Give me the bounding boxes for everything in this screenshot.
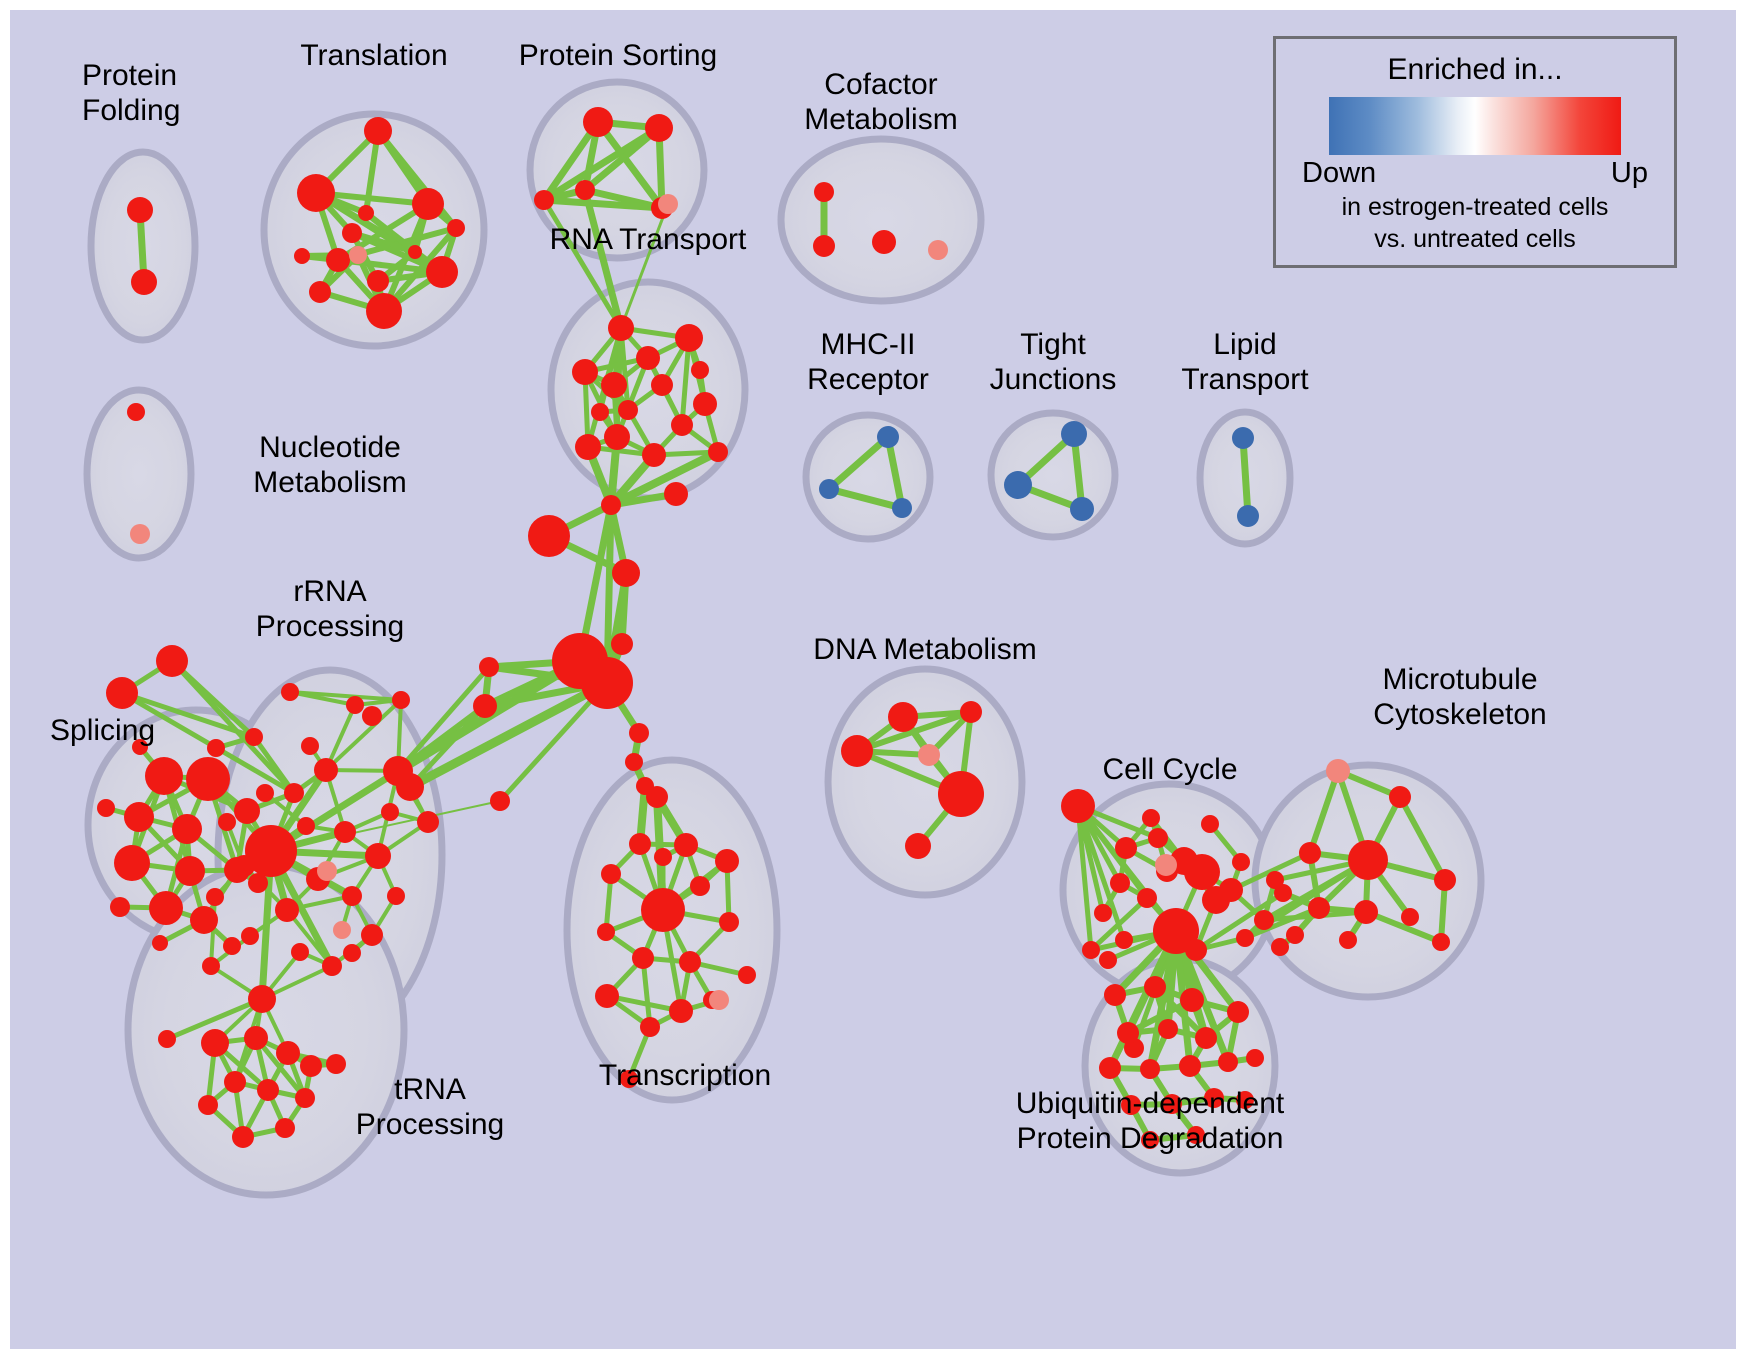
network-node[interactable] xyxy=(490,791,510,811)
network-node[interactable] xyxy=(1254,910,1274,930)
network-node[interactable] xyxy=(1232,427,1254,449)
network-node[interactable] xyxy=(358,205,374,221)
network-node[interactable] xyxy=(110,897,130,917)
network-node[interactable] xyxy=(1184,854,1220,890)
network-node[interactable] xyxy=(1219,878,1243,902)
network-node[interactable] xyxy=(1117,1022,1139,1044)
network-node[interactable] xyxy=(601,864,621,884)
network-node[interactable] xyxy=(1339,931,1357,949)
network-node[interactable] xyxy=(1115,837,1137,859)
network-node[interactable] xyxy=(392,691,410,709)
network-node[interactable] xyxy=(1082,941,1100,959)
network-node[interactable] xyxy=(1110,873,1130,893)
network-node[interactable] xyxy=(366,293,402,329)
network-node[interactable] xyxy=(1236,929,1254,947)
network-node[interactable] xyxy=(114,845,150,881)
network-node[interactable] xyxy=(575,180,595,200)
network-node[interactable] xyxy=(877,426,899,448)
network-node[interactable] xyxy=(690,876,710,896)
network-node[interactable] xyxy=(417,811,439,833)
network-node[interactable] xyxy=(145,757,183,795)
network-node[interactable] xyxy=(218,813,236,831)
network-node[interactable] xyxy=(918,744,940,766)
network-node[interactable] xyxy=(654,848,672,866)
network-node[interactable] xyxy=(583,107,613,137)
network-node[interactable] xyxy=(1354,900,1378,924)
legend-title: Enriched in... xyxy=(1276,53,1674,87)
network-node[interactable] xyxy=(175,856,205,886)
network-node[interactable] xyxy=(1432,933,1450,951)
network-node[interactable] xyxy=(691,361,709,379)
network-node[interactable] xyxy=(106,677,138,709)
network-node[interactable] xyxy=(1099,1057,1121,1079)
network-node[interactable] xyxy=(1148,828,1168,848)
network-node[interactable] xyxy=(364,117,392,145)
network-node[interactable] xyxy=(595,984,619,1008)
network-node[interactable] xyxy=(248,873,268,893)
network-node[interactable] xyxy=(658,194,678,214)
network-node[interactable] xyxy=(309,281,331,303)
network-node[interactable] xyxy=(1061,421,1087,447)
network-node[interactable] xyxy=(1348,840,1388,880)
network-node[interactable] xyxy=(127,403,145,421)
network-node[interactable] xyxy=(618,400,638,420)
network-node[interactable] xyxy=(601,372,627,398)
network-node[interactable] xyxy=(669,999,693,1023)
network-node[interactable] xyxy=(646,786,668,808)
network-node[interactable] xyxy=(1434,869,1456,891)
legend-endpoints: Down Up xyxy=(1276,155,1674,190)
network-node[interactable] xyxy=(640,1017,660,1037)
network-node[interactable] xyxy=(281,683,299,701)
network-node[interactable] xyxy=(361,924,383,946)
network-node[interactable] xyxy=(629,723,649,743)
network-node[interactable] xyxy=(198,1095,218,1115)
network-node[interactable] xyxy=(1195,1027,1217,1049)
network-node[interactable] xyxy=(326,248,350,272)
network-node[interactable] xyxy=(629,833,651,855)
network-node[interactable] xyxy=(387,887,405,905)
network-node[interactable] xyxy=(572,359,598,385)
network-node[interactable] xyxy=(1218,1052,1238,1072)
network-node[interactable] xyxy=(641,888,685,932)
network-node[interactable] xyxy=(257,1079,279,1101)
network-node[interactable] xyxy=(1137,888,1157,908)
cluster-label-lipid-transport: Lipid Transport xyxy=(1120,327,1370,397)
network-node[interactable] xyxy=(1144,976,1166,998)
network-node[interactable] xyxy=(97,799,115,817)
cluster-label-transcription: Transcription xyxy=(525,1058,845,1093)
network-node[interactable] xyxy=(381,803,399,821)
halo-cofactor-metabolism xyxy=(781,139,981,301)
cluster-label-rna-transport: RNA Transport xyxy=(478,222,818,257)
network-node[interactable] xyxy=(130,524,150,544)
network-node[interactable] xyxy=(1227,1001,1249,1023)
network-node[interactable] xyxy=(426,256,458,288)
network-node[interactable] xyxy=(1179,1055,1201,1077)
network-node[interactable] xyxy=(408,245,422,259)
cluster-label-trna-processing: tRNA Processing xyxy=(300,1072,560,1142)
network-node[interactable] xyxy=(367,270,389,292)
legend-down-label: Down xyxy=(1302,157,1376,190)
network-node[interactable] xyxy=(186,757,230,801)
network-node[interactable] xyxy=(1274,884,1292,902)
network-node[interactable] xyxy=(1299,842,1321,864)
network-node[interactable] xyxy=(608,315,634,341)
network-node[interactable] xyxy=(224,1071,246,1093)
network-node[interactable] xyxy=(1115,931,1133,949)
network-node[interactable] xyxy=(291,943,309,961)
network-node[interactable] xyxy=(202,957,220,975)
network-node[interactable] xyxy=(636,346,660,370)
network-node[interactable] xyxy=(473,694,497,718)
network-node[interactable] xyxy=(528,515,570,557)
halo-mhc-ii-receptor xyxy=(806,415,930,539)
network-node[interactable] xyxy=(158,1030,176,1048)
network-node[interactable] xyxy=(738,966,756,984)
network-node[interactable] xyxy=(1173,919,1191,937)
network-node[interactable] xyxy=(632,947,654,969)
network-node[interactable] xyxy=(715,849,739,873)
network-node[interactable] xyxy=(206,888,224,906)
network-node[interactable] xyxy=(232,1126,254,1148)
network-node[interactable] xyxy=(611,633,633,655)
network-node[interactable] xyxy=(322,956,342,976)
network-node[interactable] xyxy=(156,645,188,677)
network-node[interactable] xyxy=(1094,904,1112,922)
network-node[interactable] xyxy=(1185,939,1207,961)
network-node[interactable] xyxy=(1061,789,1095,823)
network-node[interactable] xyxy=(679,951,701,973)
network-node[interactable] xyxy=(1286,926,1304,944)
network-node[interactable] xyxy=(131,269,157,295)
network-node[interactable] xyxy=(314,758,338,782)
network-node[interactable] xyxy=(960,701,982,723)
network-node[interactable] xyxy=(268,836,286,854)
cluster-label-rrna-processing: rRNA Processing xyxy=(210,574,450,644)
network-node[interactable] xyxy=(814,182,834,202)
cluster-label-splicing: Splicing xyxy=(50,713,250,748)
network-node[interactable] xyxy=(412,188,444,220)
network-node[interactable] xyxy=(1180,988,1204,1012)
cluster-label-cofactor-metabolism: Cofactor Metabolism xyxy=(731,67,1031,137)
network-node[interactable] xyxy=(534,190,554,210)
network-node[interactable] xyxy=(719,912,739,932)
network-node[interactable] xyxy=(172,814,202,844)
network-node[interactable] xyxy=(275,898,299,922)
network-node[interactable] xyxy=(604,424,630,450)
network-node[interactable] xyxy=(362,706,382,726)
network-node[interactable] xyxy=(693,392,717,416)
network-node[interactable] xyxy=(938,771,984,817)
network-node[interactable] xyxy=(1070,497,1094,521)
network-node[interactable] xyxy=(819,479,839,499)
network-node[interactable] xyxy=(346,696,364,714)
network-node[interactable] xyxy=(342,223,362,243)
network-node[interactable] xyxy=(675,324,703,352)
network-node[interactable] xyxy=(1308,897,1330,919)
network-node[interactable] xyxy=(1271,938,1289,956)
network-node[interactable] xyxy=(671,414,693,436)
cluster-label-cell-cycle: Cell Cycle xyxy=(1040,752,1300,787)
network-node[interactable] xyxy=(651,374,673,396)
network-node[interactable] xyxy=(301,737,319,755)
network-node[interactable] xyxy=(334,821,356,843)
network-node[interactable] xyxy=(342,886,362,906)
network-node[interactable] xyxy=(244,1026,268,1050)
network-node[interactable] xyxy=(1237,505,1259,527)
network-node[interactable] xyxy=(642,443,666,467)
network-node[interactable] xyxy=(708,442,728,462)
network-node[interactable] xyxy=(127,197,153,223)
network-node[interactable] xyxy=(601,495,621,515)
network-node[interactable] xyxy=(396,773,424,801)
network-node[interactable] xyxy=(1155,854,1177,876)
network-node[interactable] xyxy=(709,990,729,1010)
network-node[interactable] xyxy=(645,114,673,142)
network-node[interactable] xyxy=(248,985,276,1013)
network-node[interactable] xyxy=(1099,951,1117,969)
network-node[interactable] xyxy=(1401,908,1419,926)
network-node[interactable] xyxy=(256,784,274,802)
network-node[interactable] xyxy=(612,559,640,587)
network-node[interactable] xyxy=(349,246,367,264)
network-node[interactable] xyxy=(276,1041,300,1065)
network-node[interactable] xyxy=(241,927,259,945)
network-node[interactable] xyxy=(297,817,315,835)
network-node[interactable] xyxy=(575,434,601,460)
network-node[interactable] xyxy=(201,1029,229,1057)
network-node[interactable] xyxy=(674,833,698,857)
network-node[interactable] xyxy=(905,833,931,859)
network-node[interactable] xyxy=(1246,1049,1264,1067)
legend-subtitle-line-2: vs. untreated cells xyxy=(1276,224,1674,254)
network-node[interactable] xyxy=(343,944,361,962)
legend-box: Enriched in... Down Up in estrogen-treat… xyxy=(1273,36,1677,268)
network-node[interactable] xyxy=(591,403,609,421)
network-node[interactable] xyxy=(297,174,335,212)
network-node[interactable] xyxy=(872,230,896,254)
network-node[interactable] xyxy=(892,498,912,518)
network-node[interactable] xyxy=(1326,759,1350,783)
network-node[interactable] xyxy=(1201,815,1219,833)
network-node[interactable] xyxy=(841,735,873,767)
network-node[interactable] xyxy=(149,891,183,925)
network-node[interactable] xyxy=(317,861,337,881)
cluster-label-ubiquitin-degradation: Ubiquitin-dependent Protein Degradation xyxy=(940,1086,1360,1156)
network-node[interactable] xyxy=(223,937,241,955)
legend-up-label: Up xyxy=(1611,157,1648,190)
cluster-label-nucleotide-metabolism: Nucleotide Metabolism xyxy=(180,430,480,500)
network-node[interactable] xyxy=(447,219,465,237)
network-node[interactable] xyxy=(1104,984,1126,1006)
network-node[interactable] xyxy=(581,657,633,709)
network-node[interactable] xyxy=(234,798,260,824)
network-node[interactable] xyxy=(275,1118,295,1138)
network-node[interactable] xyxy=(190,906,218,934)
figure-canvas: Protein Folding Translation Protein Sort… xyxy=(0,0,1750,1360)
network-node[interactable] xyxy=(1389,786,1411,808)
network-node[interactable] xyxy=(625,753,643,771)
network-node[interactable] xyxy=(479,657,499,677)
network-node[interactable] xyxy=(1232,853,1250,871)
network-node[interactable] xyxy=(124,802,154,832)
network-node[interactable] xyxy=(326,1054,346,1074)
legend-subtitle-line-1: in estrogen-treated cells xyxy=(1276,192,1674,222)
cluster-label-microtubule-cytoskeleton: Microtubule Cytoskeleton xyxy=(1290,662,1630,732)
network-node[interactable] xyxy=(1004,471,1032,499)
cluster-label-dna-metabolism: DNA Metabolism xyxy=(760,632,1090,667)
legend-color-gradient xyxy=(1329,97,1621,155)
network-node[interactable] xyxy=(928,240,948,260)
network-node[interactable] xyxy=(597,923,615,941)
network-node[interactable] xyxy=(152,935,168,951)
network-node[interactable] xyxy=(1142,809,1160,827)
network-node[interactable] xyxy=(233,855,255,877)
network-node[interactable] xyxy=(365,843,391,869)
network-node[interactable] xyxy=(1158,1019,1178,1039)
network-node[interactable] xyxy=(294,248,310,264)
network-node[interactable] xyxy=(284,783,304,803)
network-node[interactable] xyxy=(333,921,351,939)
network-node[interactable] xyxy=(1140,1059,1160,1079)
network-node[interactable] xyxy=(664,482,688,506)
network-node[interactable] xyxy=(888,702,918,732)
